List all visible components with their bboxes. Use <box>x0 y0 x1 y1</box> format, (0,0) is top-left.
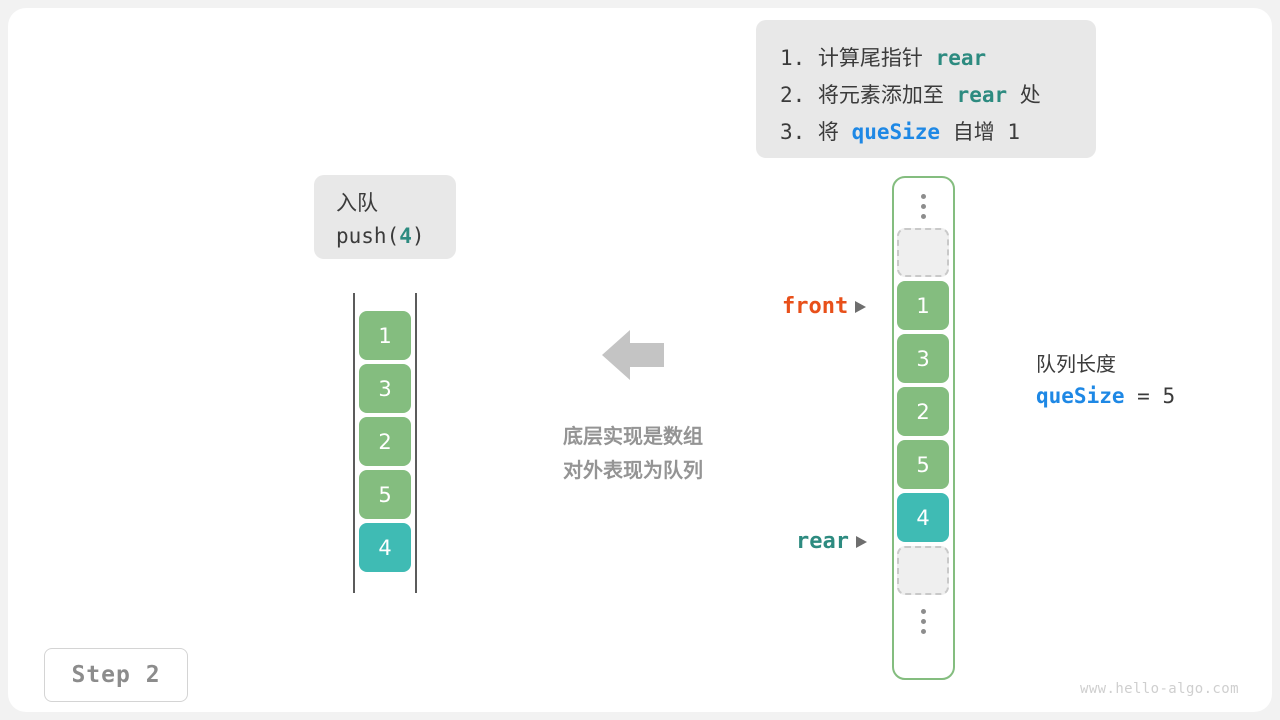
operation-panel: 入队 push(4) <box>314 175 456 259</box>
step-line-2-prefix: 2. 将元素添加至 <box>780 83 957 107</box>
right-array-empty-slot <box>897 228 949 277</box>
left-queue-cell: 2 <box>359 417 411 466</box>
middle-caption-line-2: 对外表现为队列 <box>537 453 729 487</box>
operation-call: push(4) <box>336 219 456 253</box>
left-queue-cell: 5 <box>359 470 411 519</box>
step-badge-label: Step 2 <box>71 662 160 688</box>
right-array-cell: 5 <box>897 440 949 489</box>
page-frame: 1. 计算尾指针 rear 2. 将元素添加至 rear 处 3. 将 queS… <box>8 8 1272 712</box>
watermark: www.hello-algo.com <box>1080 681 1239 697</box>
left-queue-cell: 4 <box>359 523 411 572</box>
left-queue-rail-left <box>353 293 355 593</box>
middle-caption: 底层实现是数组 对外表现为队列 <box>537 419 729 487</box>
left-queue-cells: 13254 <box>359 311 411 576</box>
front-pointer-arrow-icon <box>855 301 866 313</box>
step-line-3: 3. 将 queSize 自增 1 <box>780 114 1072 151</box>
middle-caption-line-1: 底层实现是数组 <box>537 419 729 453</box>
steps-panel: 1. 计算尾指针 rear 2. 将元素添加至 rear 处 3. 将 queS… <box>756 20 1096 158</box>
left-queue-cell: 3 <box>359 364 411 413</box>
right-array-cell: 3 <box>897 334 949 383</box>
left-queue-rail-right <box>415 293 417 593</box>
right-array-cell: 1 <box>897 281 949 330</box>
step-line-1: 1. 计算尾指针 rear <box>780 40 1072 77</box>
quesize-variable: queSize <box>1036 384 1125 408</box>
left-queue-cell: 1 <box>359 311 411 360</box>
rear-pointer-arrow-icon <box>856 536 867 548</box>
front-pointer-label: front <box>782 294 866 319</box>
step-line-2: 2. 将元素添加至 rear 处 <box>780 77 1072 114</box>
step-line-3-prefix: 3. 将 <box>780 120 852 144</box>
operation-call-prefix: push( <box>336 224 399 248</box>
operation-call-suffix: ) <box>412 224 425 248</box>
queue-length-expression: queSize = 5 <box>1036 379 1175 413</box>
operation-title: 入队 <box>336 187 456 219</box>
right-array-cells: 13254 <box>897 184 950 643</box>
left-queue-view: 13254 <box>353 293 417 593</box>
step-badge: Step 2 <box>44 648 188 702</box>
step-line-3-keyword: queSize <box>852 120 941 144</box>
step-line-3-suffix: 自增 1 <box>940 120 1020 144</box>
step-line-2-keyword: rear <box>957 83 1008 107</box>
right-array-cell: 2 <box>897 387 949 436</box>
top-ellipsis-icon <box>897 184 950 228</box>
quesize-equals: = <box>1125 384 1163 408</box>
queue-length-note: 队列长度 queSize = 5 <box>1036 349 1175 413</box>
step-line-2-suffix: 处 <box>1007 83 1041 107</box>
front-pointer-text: front <box>782 294 848 319</box>
right-array-empty-slot <box>897 546 949 595</box>
quesize-value: 5 <box>1162 384 1175 408</box>
transform-arrow-icon <box>602 326 664 388</box>
step-line-1-prefix: 1. 计算尾指针 <box>780 46 936 70</box>
operation-call-argument: 4 <box>399 224 412 248</box>
rear-pointer-text: rear <box>796 529 849 554</box>
rear-pointer-label: rear <box>796 529 867 554</box>
bottom-ellipsis-icon <box>897 599 950 643</box>
right-array-cell: 4 <box>897 493 949 542</box>
queue-length-label: 队列长度 <box>1036 349 1175 379</box>
step-line-1-keyword: rear <box>936 46 987 70</box>
screenshot-canvas: 1. 计算尾指针 rear 2. 将元素添加至 rear 处 3. 将 queS… <box>0 0 1280 720</box>
right-array-view: 13254 <box>892 176 955 680</box>
